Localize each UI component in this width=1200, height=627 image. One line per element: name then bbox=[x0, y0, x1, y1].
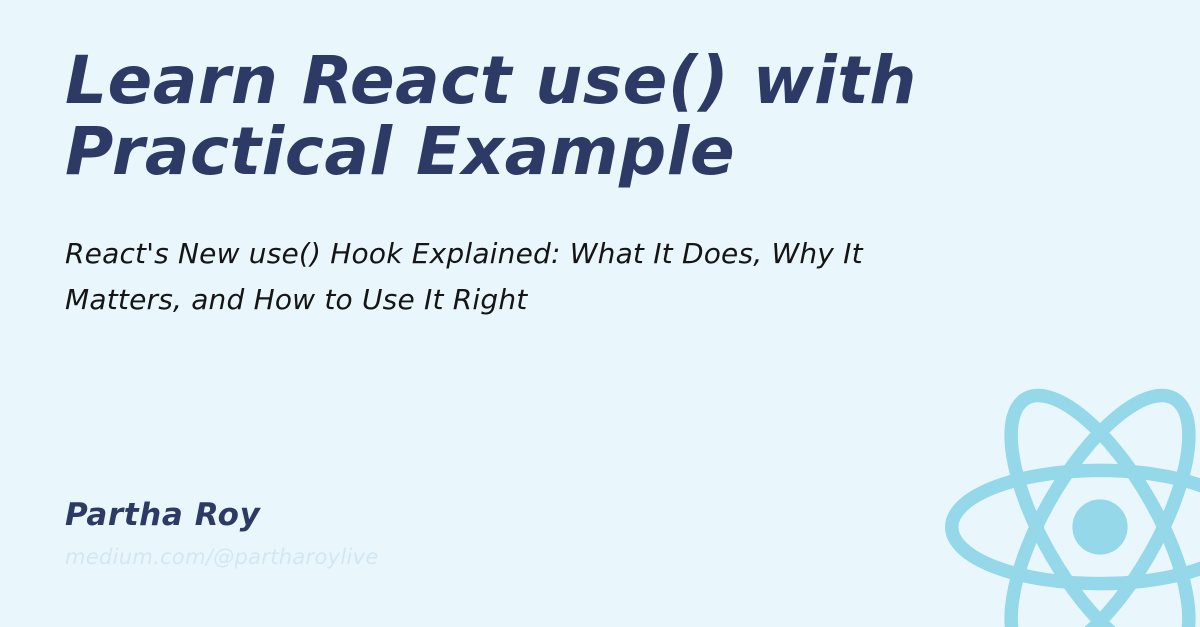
cover-text-content: Learn React use() with Practical Example… bbox=[65, 46, 1140, 322]
page-title: Learn React use() with Practical Example bbox=[65, 46, 945, 187]
react-logo-watermark bbox=[945, 372, 1200, 627]
author-profile-url: medium.com/@partharoylive bbox=[65, 534, 379, 570]
react-nucleus-icon bbox=[1072, 499, 1127, 554]
article-cover-card: Learn React use() with Practical Example… bbox=[0, 0, 1200, 627]
page-subtitle: React's New use() Hook Explained: What I… bbox=[65, 187, 895, 322]
react-electron-orbits bbox=[952, 372, 1200, 627]
react-orbit-1 bbox=[952, 470, 1200, 583]
author-block: Partha Roy medium.com/@partharoylive bbox=[65, 497, 379, 570]
author-name: Partha Roy bbox=[65, 497, 379, 534]
react-orbit-2 bbox=[977, 372, 1200, 627]
react-atom-icon bbox=[945, 372, 1200, 627]
react-orbit-3 bbox=[977, 372, 1200, 627]
